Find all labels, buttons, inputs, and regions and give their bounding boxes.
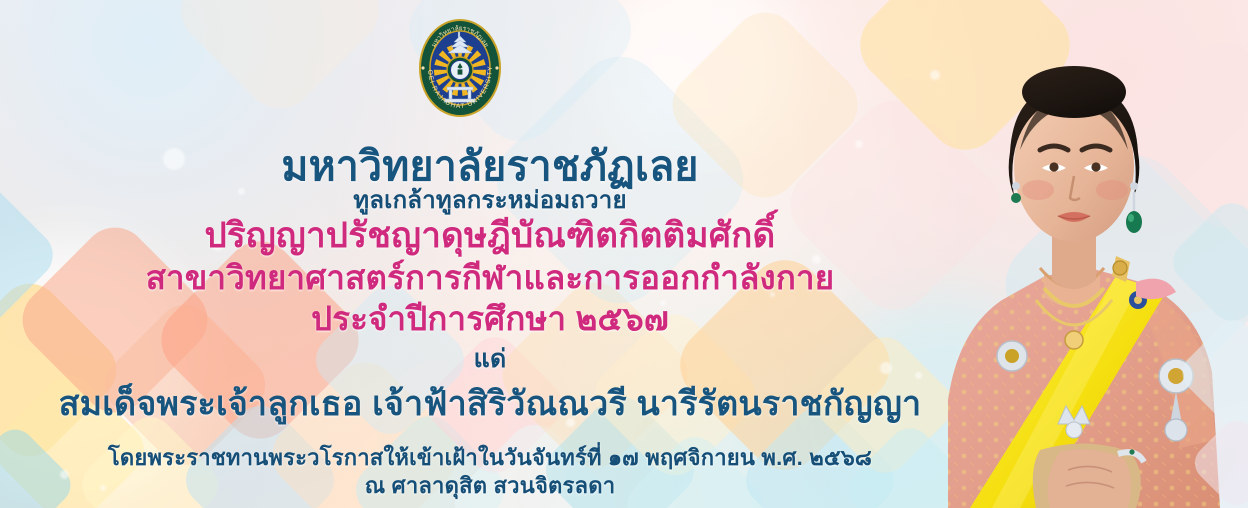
to-label: แด่ — [0, 339, 980, 379]
recipient-name: สมเด็จพระเจ้าลูกเธอ เจ้าฟ้าสิริวัณณวรี น… — [0, 376, 980, 430]
royal-portrait — [940, 0, 1248, 508]
announcement-copy: มหาวิทยาลัยราชภัฏเลย ทูลเกล้าทูลกระหม่อม… — [0, 0, 980, 508]
ceremonial-banner: มหาวิทยาลัยราชภัฏเลย LOEI RAJABHAT UNIVE… — [0, 0, 1248, 508]
venue: ณ ศาลาดุสิต สวนจิตรลดา — [0, 468, 980, 503]
academic-year: ประจำปีการศึกษา ๒๕๖๗ — [0, 292, 980, 345]
